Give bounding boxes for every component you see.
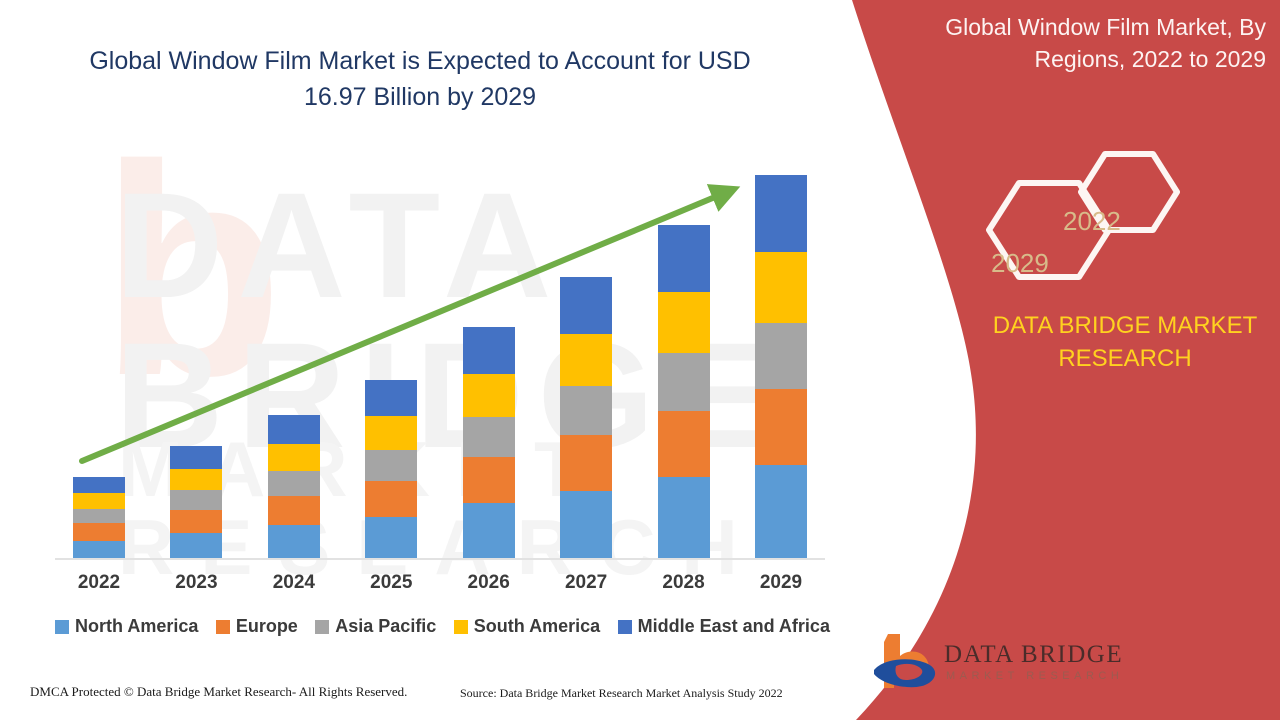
bar-segment[interactable] (463, 374, 515, 417)
infographic-canvas: b DATA BRIDGE MARKET RESEARCH Global Win… (0, 0, 1280, 720)
hexagon-2029-label: 2029 (991, 248, 1049, 279)
bar-segment[interactable] (463, 503, 515, 560)
bar-segment[interactable] (560, 334, 612, 386)
bar-segment[interactable] (463, 417, 515, 457)
bar-segment[interactable] (268, 415, 320, 444)
bar-segment[interactable] (365, 450, 417, 481)
bar-segment[interactable] (73, 523, 125, 540)
bar-segment[interactable] (755, 323, 807, 389)
stacked-bars (55, 150, 825, 560)
legend-label: Asia Pacific (335, 616, 436, 637)
logo-name: DATA BRIDGE (944, 641, 1123, 669)
legend-label: Europe (236, 616, 298, 637)
bar-segment[interactable] (560, 386, 612, 434)
bar-segment[interactable] (365, 517, 417, 560)
bar-segment[interactable] (755, 252, 807, 323)
x-axis-labels: 20222023202420252026202720282029 (55, 572, 825, 594)
x-axis-label-2025: 2025 (365, 572, 417, 594)
legend-label: North America (75, 616, 198, 637)
legend-item-europe[interactable]: Europe (216, 616, 298, 637)
bar-segment[interactable] (755, 465, 807, 560)
legend-item-asia-pacific[interactable]: Asia Pacific (315, 616, 436, 637)
x-axis-label-2027: 2027 (560, 572, 612, 594)
bar-column-2027[interactable] (560, 150, 612, 560)
logo-subtitle: MARKET RESEARCH (946, 670, 1123, 682)
bar-segment[interactable] (170, 446, 222, 469)
x-axis-line (55, 558, 825, 560)
x-axis-label-2028: 2028 (658, 572, 710, 594)
bar-column-2023[interactable] (170, 150, 222, 560)
bar-segment[interactable] (268, 496, 320, 525)
bar-segment[interactable] (73, 509, 125, 523)
bar-segment[interactable] (658, 353, 710, 411)
bar-column-2026[interactable] (463, 150, 515, 560)
legend-swatch-icon (454, 620, 468, 634)
hexagon-badges: 2022 2029 (975, 140, 1205, 300)
bar-segment[interactable] (463, 327, 515, 374)
legend-swatch-icon (618, 620, 632, 634)
chart-title: Global Window Film Market is Expected to… (70, 44, 770, 115)
bar-segment[interactable] (170, 510, 222, 533)
bar-segment[interactable] (365, 481, 417, 517)
bar-segment[interactable] (73, 493, 125, 509)
bar-segment[interactable] (170, 490, 222, 509)
bar-column-2022[interactable] (73, 150, 125, 560)
bar-segment[interactable] (755, 175, 807, 252)
bar-segment[interactable] (560, 277, 612, 334)
x-axis-label-2023: 2023 (170, 572, 222, 594)
bar-column-2024[interactable] (268, 150, 320, 560)
bar-column-2025[interactable] (365, 150, 417, 560)
brand-name: DATA BRIDGE MARKET RESEARCH (975, 310, 1275, 375)
bar-segment[interactable] (658, 411, 710, 477)
bar-segment[interactable] (365, 380, 417, 417)
legend-swatch-icon (55, 620, 69, 634)
legend-item-south-america[interactable]: South America (454, 616, 600, 637)
bar-segment[interactable] (658, 225, 710, 292)
chart-plot-area (55, 150, 825, 560)
bar-segment[interactable] (268, 471, 320, 496)
bar-segment[interactable] (755, 389, 807, 465)
bar-segment[interactable] (268, 525, 320, 560)
bar-segment[interactable] (463, 457, 515, 503)
bar-segment[interactable] (170, 533, 222, 560)
bar-segment[interactable] (658, 477, 710, 560)
source-text: Source: Data Bridge Market Research Mark… (460, 686, 783, 701)
bar-column-2029[interactable] (755, 150, 807, 560)
bar-segment[interactable] (73, 477, 125, 494)
bar-segment[interactable] (560, 491, 612, 560)
legend-item-north-america[interactable]: North America (55, 616, 198, 637)
bar-segment[interactable] (560, 435, 612, 491)
bar-segment[interactable] (365, 416, 417, 449)
x-axis-label-2029: 2029 (755, 572, 807, 594)
panel-title: Global Window Film Market, By Regions, 2… (900, 12, 1266, 75)
legend-swatch-icon (216, 620, 230, 634)
legend-item-middle-east-and-africa[interactable]: Middle East and Africa (618, 616, 830, 637)
chart-legend: North AmericaEuropeAsia PacificSouth Ame… (55, 616, 830, 637)
legend-label: Middle East and Africa (638, 616, 830, 637)
x-axis-label-2026: 2026 (463, 572, 515, 594)
bar-segment[interactable] (268, 444, 320, 471)
bar-column-2028[interactable] (658, 150, 710, 560)
legend-swatch-icon (315, 620, 329, 634)
legend-label: South America (474, 616, 600, 637)
hexagon-2022-label: 2022 (1063, 206, 1121, 237)
bar-segment[interactable] (170, 469, 222, 490)
copyright-text: DMCA Protected © Data Bridge Market Rese… (30, 684, 407, 700)
bar-segment[interactable] (658, 292, 710, 353)
x-axis-label-2022: 2022 (73, 572, 125, 594)
x-axis-label-2024: 2024 (268, 572, 320, 594)
